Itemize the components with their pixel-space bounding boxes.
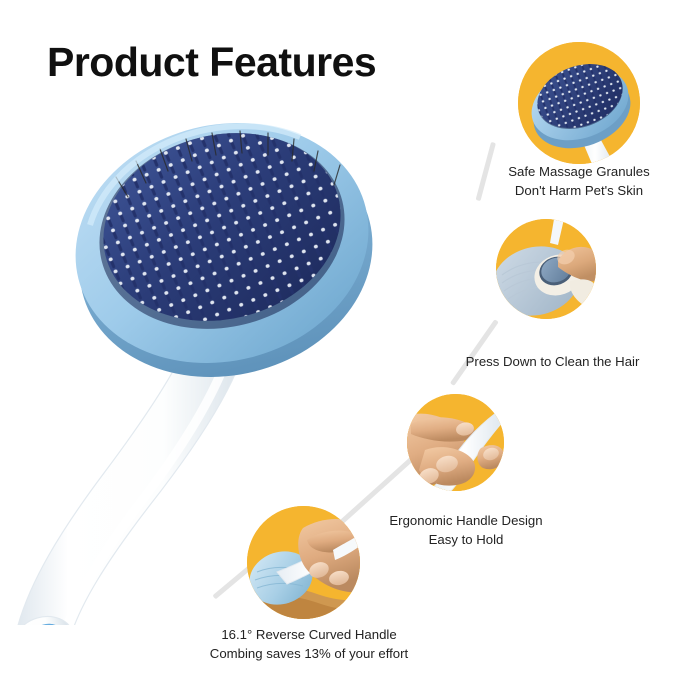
- caption-line: Ergonomic Handle Design: [371, 512, 561, 531]
- feature-caption-safe-massage-granules: Safe Massage Granules Don't Harm Pet's S…: [498, 163, 660, 200]
- caption-line: Don't Harm Pet's Skin: [498, 182, 660, 201]
- feature-circle-safe-massage-granules[interactable]: [518, 42, 640, 164]
- page-title: Product Features: [47, 40, 376, 85]
- caption-line: Easy to Hold: [371, 531, 561, 550]
- caption-line: 16.1° Reverse Curved Handle: [183, 626, 435, 645]
- caption-line: Combing saves 13% of your effort: [183, 645, 435, 664]
- product-features-infographic: Product Features: [0, 0, 679, 679]
- connector-line-feature-1: [476, 142, 496, 201]
- feature-caption-press-down-to-clean: Press Down to Clean the Hair: [455, 353, 650, 372]
- feature-circle-reverse-curved-handle[interactable]: [247, 506, 360, 619]
- feature-circle-press-down-to-clean[interactable]: [496, 219, 596, 319]
- feature-circle-ergonomic-handle[interactable]: [407, 394, 504, 491]
- feature-caption-reverse-curved-handle: 16.1° Reverse Curved Handle Combing save…: [183, 626, 435, 663]
- feature-caption-ergonomic-handle: Ergonomic Handle Design Easy to Hold: [371, 512, 561, 549]
- caption-line: Safe Massage Granules: [498, 163, 660, 182]
- caption-line: Press Down to Clean the Hair: [455, 353, 650, 372]
